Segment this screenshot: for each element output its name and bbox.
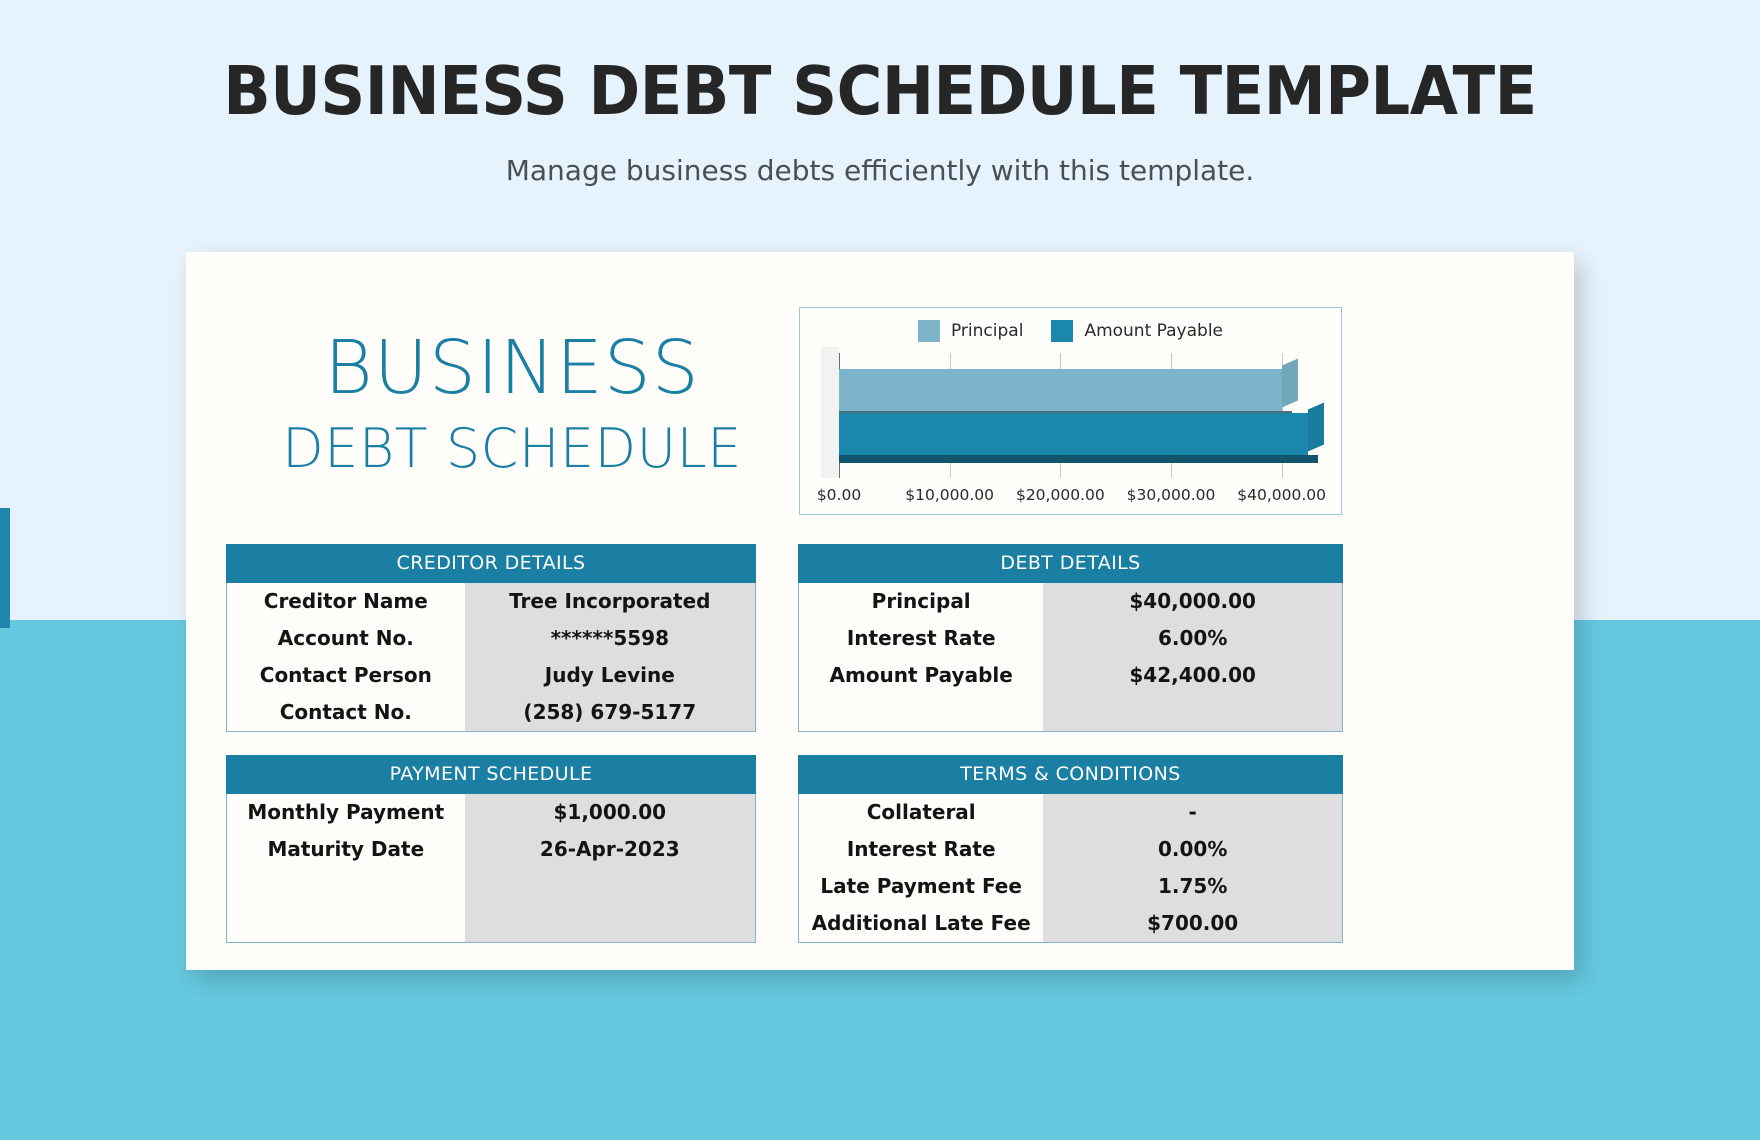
- bar-face: [839, 413, 1308, 455]
- row-label: Maturity Date: [227, 831, 465, 868]
- value-column: $40,000.00 6.00% $42,400.00: [1043, 583, 1342, 731]
- chart-3d-wall: [821, 347, 839, 478]
- brand-line-1: BUSINESS: [232, 330, 792, 406]
- chart-x-axis-labels: $0.00$10,000.00$20,000.00$30,000.00$40,0…: [814, 486, 1334, 510]
- row-label: Principal: [799, 583, 1043, 620]
- row-value: [465, 868, 755, 905]
- debt-bar-chart: PrincipalAmount Payable $0.00$10,000.00$…: [799, 307, 1342, 515]
- row-label: Creditor Name: [227, 583, 465, 620]
- legend-swatch-icon: [918, 320, 940, 342]
- axis-tick-label: $10,000.00: [905, 486, 994, 504]
- template-card: BUSINESS DEBT SCHEDULE PrincipalAmount P…: [186, 252, 1574, 970]
- row-label: [799, 694, 1043, 731]
- row-label: Contact Person: [227, 657, 465, 694]
- row-value: [465, 905, 755, 942]
- row-value: Tree Incorporated: [465, 583, 755, 620]
- page-header: BUSINESS DEBT SCHEDULE TEMPLATE Manage b…: [0, 0, 1760, 187]
- brand-heading: BUSINESS DEBT SCHEDULE: [232, 330, 792, 478]
- table-title-debt-details: DEBT DETAILS: [798, 544, 1343, 583]
- label-column: Monthly Payment Maturity Date: [227, 794, 465, 942]
- bar-bottom-edge: [839, 455, 1318, 463]
- row-value: -: [1043, 794, 1342, 831]
- row-value: 0.00%: [1043, 831, 1342, 868]
- row-value: 1.75%: [1043, 868, 1342, 905]
- axis-tick-label: $40,000.00: [1237, 486, 1326, 504]
- legend-entry: Amount Payable: [1051, 320, 1223, 342]
- row-label: Amount Payable: [799, 657, 1043, 694]
- axis-tick-label: $0.00: [817, 486, 861, 504]
- table-title-payment-schedule: PAYMENT SCHEDULE: [226, 755, 756, 794]
- row-value: $42,400.00: [1043, 657, 1342, 694]
- table-title-creditor-details: CREDITOR DETAILS: [226, 544, 756, 583]
- row-label: Late Payment Fee: [799, 868, 1043, 905]
- axis-tick-label: $30,000.00: [1127, 486, 1216, 504]
- bar-depth-cap: [1308, 402, 1324, 451]
- legend-label: Principal: [951, 321, 1023, 341]
- row-label: Account No.: [227, 620, 465, 657]
- bar-depth-cap: [1282, 358, 1298, 407]
- row-value: $40,000.00: [1043, 583, 1342, 620]
- row-value: 6.00%: [1043, 620, 1342, 657]
- chart-plot-area: [821, 353, 1337, 478]
- row-label: Monthly Payment: [227, 794, 465, 831]
- row-value: ******5598: [465, 620, 755, 657]
- table-debt-details: DEBT DETAILS Principal Interest Rate Amo…: [798, 544, 1343, 732]
- label-column: Collateral Interest Rate Late Payment Fe…: [799, 794, 1043, 942]
- row-value: Judy Levine: [465, 657, 755, 694]
- row-value: $1,000.00: [465, 794, 755, 831]
- row-value: (258) 679-5177: [465, 694, 755, 731]
- table-payment-schedule: PAYMENT SCHEDULE Monthly Payment Maturit…: [226, 755, 756, 943]
- row-label: [227, 905, 465, 942]
- table-title-terms-conditions: TERMS & CONDITIONS: [798, 755, 1343, 794]
- axis-tick-label: $20,000.00: [1016, 486, 1105, 504]
- page-title: BUSINESS DEBT SCHEDULE TEMPLATE: [62, 52, 1699, 130]
- left-accent-bar: [0, 508, 10, 628]
- table-terms-conditions: TERMS & CONDITIONS Collateral Interest R…: [798, 755, 1343, 943]
- value-column: $1,000.00 26-Apr-2023: [465, 794, 755, 942]
- legend-swatch-icon: [1051, 320, 1073, 342]
- label-column: Principal Interest Rate Amount Payable: [799, 583, 1043, 731]
- legend-label: Amount Payable: [1084, 321, 1223, 341]
- row-label: Additional Late Fee: [799, 905, 1043, 942]
- brand-line-2: DEBT SCHEDULE: [232, 420, 792, 478]
- row-value: 26-Apr-2023: [465, 831, 755, 868]
- page-subtitle: Manage business debts efficiently with t…: [0, 154, 1760, 187]
- bar-face: [839, 369, 1282, 411]
- row-value: [1043, 694, 1342, 731]
- row-value: $700.00: [1043, 905, 1342, 942]
- chart-legend: PrincipalAmount Payable: [800, 320, 1341, 342]
- row-label: Collateral: [799, 794, 1043, 831]
- row-label: Contact No.: [227, 694, 465, 731]
- row-label: Interest Rate: [799, 831, 1043, 868]
- legend-entry: Principal: [918, 320, 1023, 342]
- label-column: Creditor Name Account No. Contact Person…: [227, 583, 465, 731]
- row-label: Interest Rate: [799, 620, 1043, 657]
- value-column: - 0.00% 1.75% $700.00: [1043, 794, 1342, 942]
- value-column: Tree Incorporated ******5598 Judy Levine…: [465, 583, 755, 731]
- row-label: [227, 868, 465, 905]
- table-creditor-details: CREDITOR DETAILS Creditor Name Account N…: [226, 544, 756, 732]
